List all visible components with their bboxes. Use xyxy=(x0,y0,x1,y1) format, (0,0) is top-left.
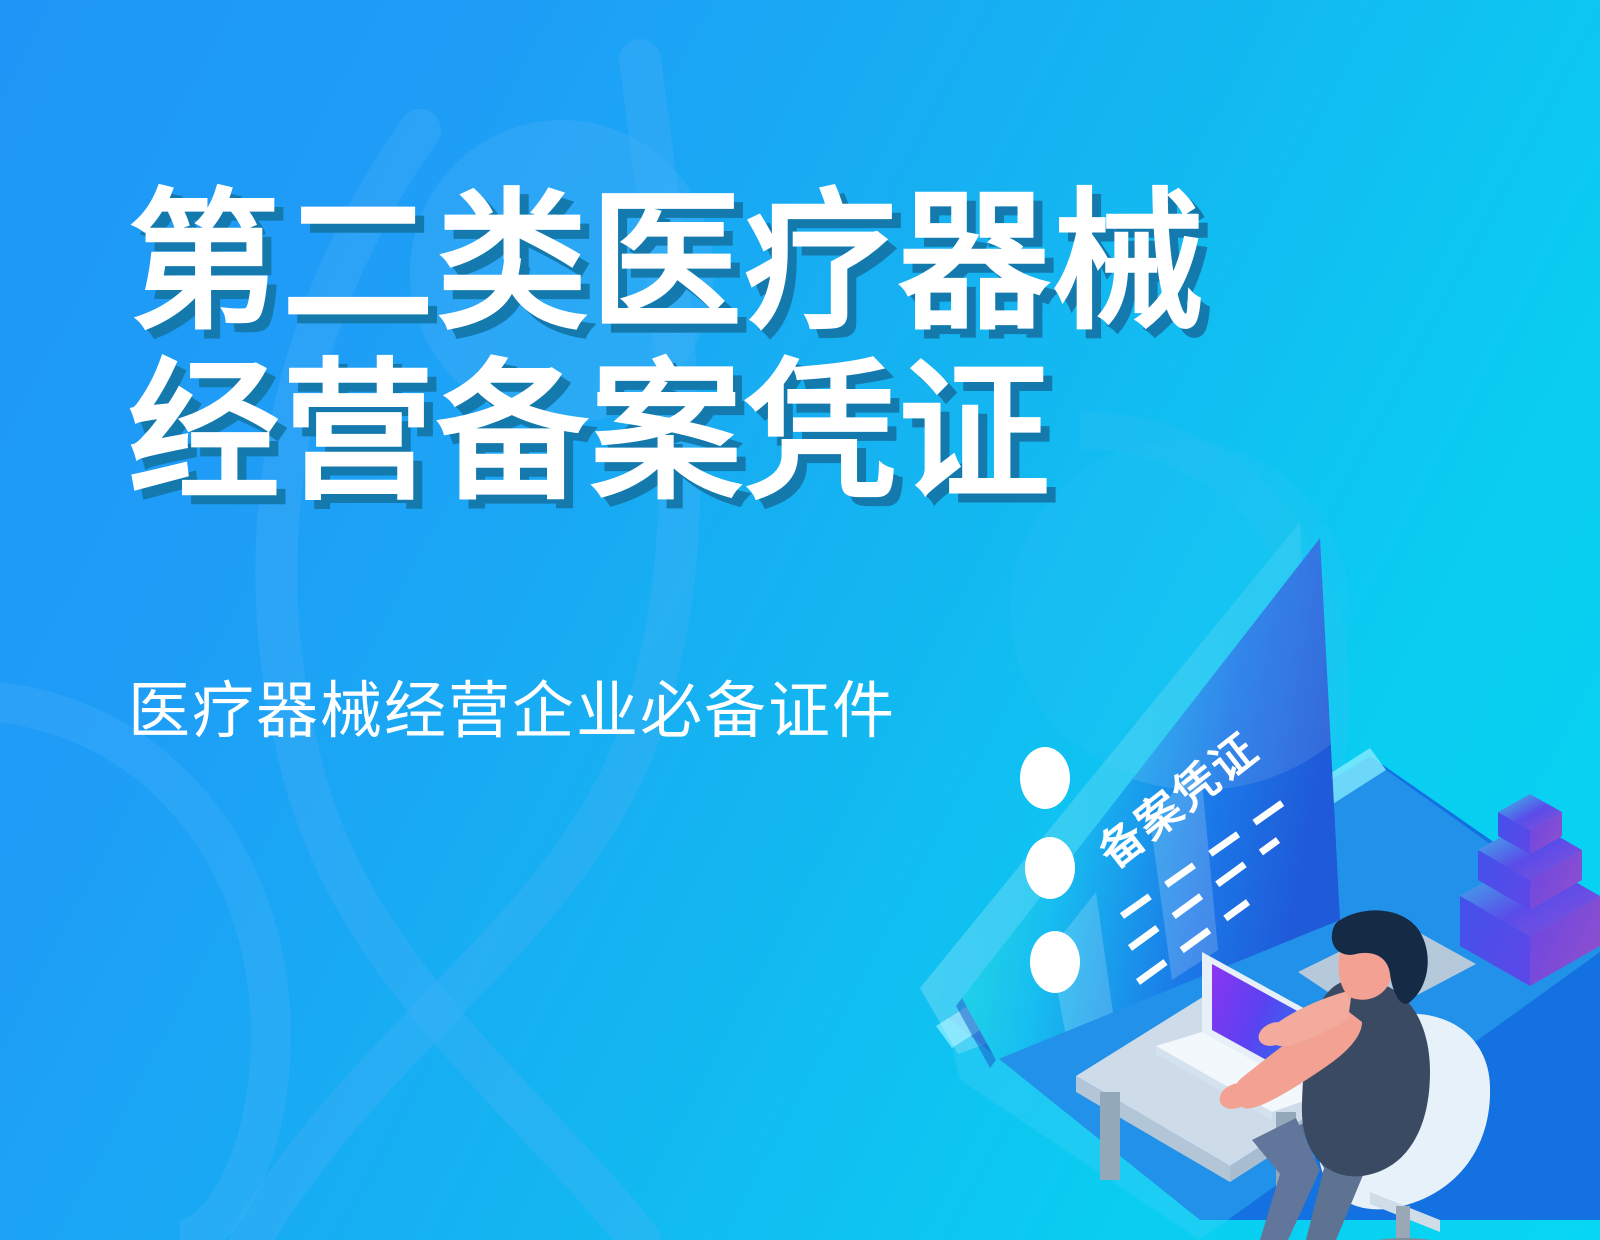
isometric-illustration: 备案凭证 xyxy=(900,520,1600,1240)
headline-line-1: 第二类医疗器械 xyxy=(128,178,1328,348)
subtitle-text: 医疗器械经营企业必备证件 xyxy=(128,672,896,752)
promo-banner: 第二类医疗器械 经营备案凭证 医疗器械经营企业必备证件 xyxy=(0,0,1600,1240)
headline-block: 第二类医疗器械 经营备案凭证 xyxy=(128,178,1328,518)
headline-line-2: 经营备案凭证 xyxy=(128,348,1328,518)
stacked-blocks xyxy=(1460,794,1600,986)
